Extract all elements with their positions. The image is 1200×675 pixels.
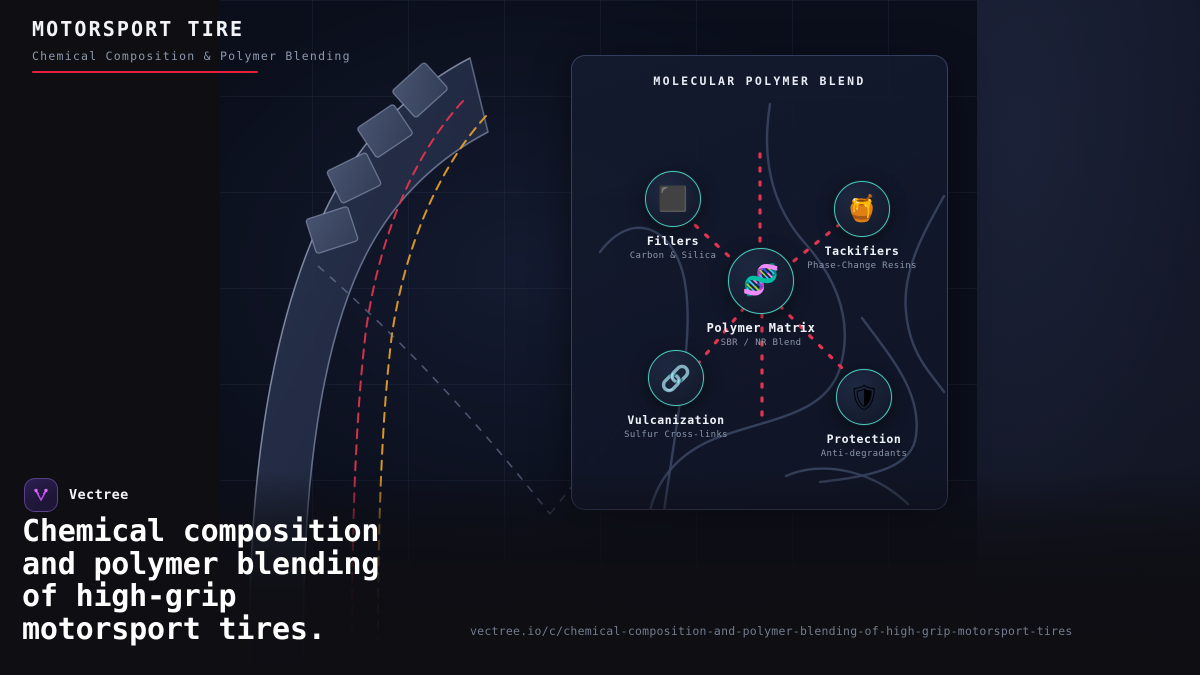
molecular-polymer-blend-panel: MOLECULAR POLYMER BLEND ⬛ Fillers Carbon…: [571, 55, 948, 510]
honey-pot-icon: 🍯: [846, 196, 878, 222]
illustration-subtitle: Chemical Composition & Polymer Blending: [32, 49, 552, 63]
illustration-title: MOTORSPORT TIRE: [32, 18, 552, 40]
node-fillers-circle[interactable]: ⬛: [645, 171, 701, 227]
node-vulcanization-desc: Sulfur Cross-links: [616, 430, 736, 440]
brand-name: Vectree: [69, 487, 129, 503]
dark-square-icon: ⬛: [658, 187, 688, 211]
node-protection-circle[interactable]: 🛡: [836, 369, 892, 425]
node-polymer-matrix-desc: SBR / NR Blend: [701, 338, 821, 348]
node-protection-desc: Anti-degradants: [804, 449, 924, 459]
accent-underline: [32, 71, 258, 73]
node-tackifiers-circle[interactable]: 🍯: [834, 181, 890, 237]
node-vulcanization-label: Vulcanization: [616, 413, 736, 427]
node-vulcanization[interactable]: 🔗 Vulcanization Sulfur Cross-links: [616, 350, 736, 440]
shield-icon: 🛡: [848, 385, 880, 410]
vectree-glyph: [31, 485, 51, 505]
chain-link-icon: 🔗: [660, 366, 691, 391]
vectree-node-left: [34, 489, 37, 492]
vectree-node-right: [44, 489, 47, 492]
illustration-header: MOTORSPORT TIRE Chemical Composition & P…: [32, 18, 552, 73]
headline-line-3: of high-grip: [22, 581, 642, 614]
node-protection[interactable]: 🛡 Protection Anti-degradants: [804, 369, 924, 459]
footer-url: vectree.io/c/chemical-composition-and-po…: [470, 624, 1073, 638]
brand-lockup[interactable]: Vectree: [24, 478, 129, 512]
headline-line-1: Chemical composition: [22, 516, 642, 549]
dna-helix-icon: 🧬: [742, 266, 779, 296]
node-polymer-matrix-circle[interactable]: 🧬: [728, 248, 794, 314]
headline-line-2: and polymer blending: [22, 549, 642, 582]
vectree-logo-icon: [24, 478, 58, 512]
node-polymer-matrix[interactable]: 🧬 Polymer Matrix SBR / NR Blend: [701, 248, 821, 348]
node-vulcanization-circle[interactable]: 🔗: [648, 350, 704, 406]
node-protection-label: Protection: [804, 432, 924, 446]
node-fillers-label: Fillers: [613, 234, 733, 248]
node-polymer-matrix-label: Polymer Matrix: [701, 321, 821, 335]
